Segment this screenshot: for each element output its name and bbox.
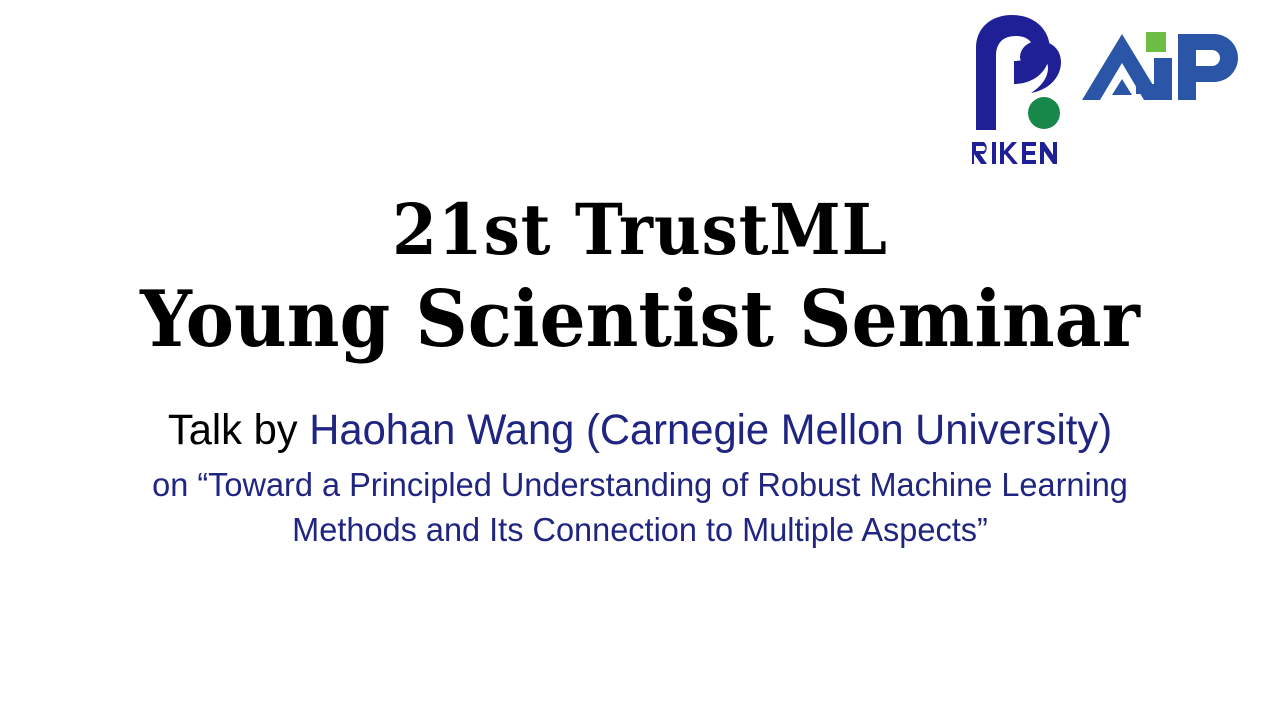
seminar-headline: 21st TrustML Young Scientist Seminar xyxy=(0,186,1280,366)
headline-line-1: 21st TrustML xyxy=(51,186,1229,274)
seminar-announcement-slide: 21st TrustML Young Scientist Seminar Tal… xyxy=(0,0,1280,720)
speaker-name-affiliation: Haohan Wang (Carnegie Mellon University) xyxy=(309,406,1112,454)
talk-title: on “Toward a Principled Understanding of… xyxy=(40,462,1240,552)
riken-wordmark xyxy=(970,140,1070,166)
aip-logo xyxy=(1080,22,1248,110)
speaker-line: Talk by Haohan Wang (Carnegie Mellon Uni… xyxy=(19,404,1261,456)
aip-wordmark-icon xyxy=(1080,22,1248,110)
talk-title-line-2: Methods and Its Connection to Multiple A… xyxy=(49,507,1231,552)
riken-r-mark-icon xyxy=(972,14,1068,132)
logo-band xyxy=(968,14,1248,166)
headline-line-2: Young Scientist Seminar xyxy=(45,274,1235,366)
riken-logo xyxy=(968,14,1072,166)
talk-title-line-1: on “Toward a Principled Understanding of… xyxy=(49,462,1231,507)
speaker-prefix-label: Talk by xyxy=(168,406,309,454)
